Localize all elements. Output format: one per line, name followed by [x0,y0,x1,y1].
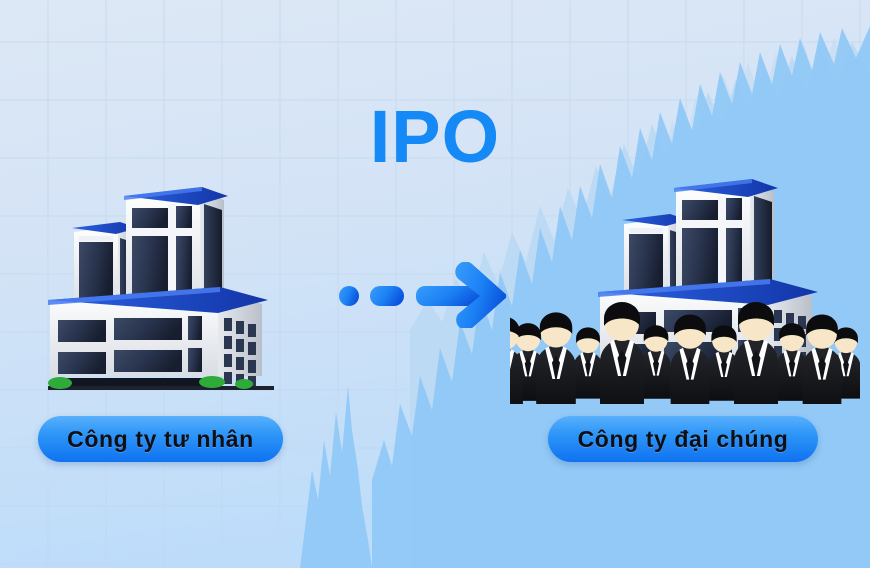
page-title: IPO [0,100,870,174]
person [641,325,671,398]
ipo-infographic: IPO [0,0,870,568]
person [803,314,842,404]
person [573,327,602,398]
person [600,302,644,404]
arrow-dash [370,286,404,306]
bush [235,379,253,389]
shareholder-crowd [510,300,860,404]
person [536,312,576,404]
office-building-left [48,178,280,390]
bush [48,377,72,389]
chart-front-range [300,386,372,568]
podium [48,287,268,388]
label-private-company[interactable]: Công ty tư nhân [38,416,283,462]
bush [199,376,225,388]
transition-arrow [338,262,518,328]
label-public-company[interactable]: Công ty đại chúng [548,416,818,462]
person [671,314,710,404]
arrow-dot [339,286,359,306]
person [734,302,778,404]
